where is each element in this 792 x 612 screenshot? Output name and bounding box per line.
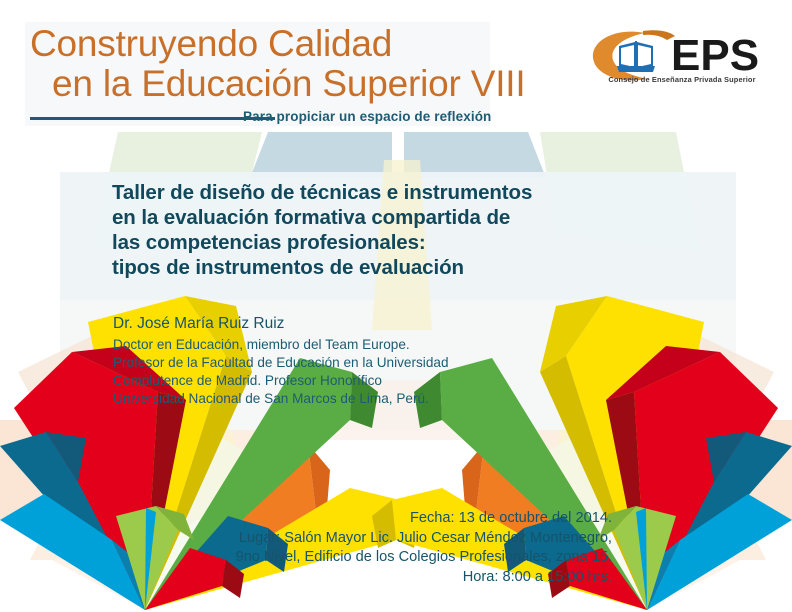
event-series-title: Construyendo Calidad en la Educación Sup…	[30, 24, 510, 104]
speaker-bio-line-2: Profesor de la Facultad de Educación en …	[113, 354, 583, 372]
logo-tagline: Consejo de Enseñanza Privada Superior	[583, 75, 781, 84]
header-tagline: Para propiciar un espacio de reflexión	[243, 109, 491, 124]
event-venue-line-2: 9no Nivel, Edificio de los Colegios Prof…	[236, 548, 612, 568]
event-series-title-line2: en la Educación Superior VIII	[30, 64, 510, 104]
speaker-bio: Doctor en Educación, miembro del Team Eu…	[113, 336, 583, 408]
workshop-title-line-1: Taller de diseño de técnicas e instrumen…	[112, 180, 652, 205]
workshop-title-line-3: las competencias profesionales:	[112, 230, 652, 255]
speaker-block: Dr. José María Ruiz Ruiz Doctor en Educa…	[113, 313, 583, 408]
event-series-title-line1: Construyendo Calidad	[30, 23, 392, 64]
event-venue-line-1: Lugar: Salón Mayor Lic. Julio Cesar Ménd…	[236, 529, 612, 549]
event-date: Fecha: 13 de octubre del 2014.	[236, 509, 612, 529]
workshop-title: Taller de diseño de técnicas e instrumen…	[112, 180, 652, 280]
speaker-bio-line-1: Doctor en Educación, miembro del Team Eu…	[113, 336, 583, 354]
poster-canvas: Construyendo Calidad en la Educación Sup…	[0, 0, 792, 612]
speaker-bio-line-4: Universidad Nacional de San Marcos de Li…	[113, 390, 583, 408]
event-time: Hora: 8:00 a 15:00 hrs.	[236, 568, 612, 588]
logo-brand-text: EPS	[671, 31, 759, 80]
event-details-block: Fecha: 13 de octubre del 2014. Lugar: Sa…	[236, 509, 612, 587]
header-rule-divider	[30, 117, 275, 120]
speaker-bio-line-3: Complutence de Madrid. Profesor Honorífi…	[113, 372, 583, 390]
workshop-title-line-4: tipos de instrumentos de evaluación	[112, 255, 652, 280]
workshop-title-line-2: en la evaluación formativa compartida de	[112, 205, 652, 230]
open-book-icon	[617, 41, 655, 72]
speaker-name: Dr. José María Ruiz Ruiz	[113, 313, 583, 334]
